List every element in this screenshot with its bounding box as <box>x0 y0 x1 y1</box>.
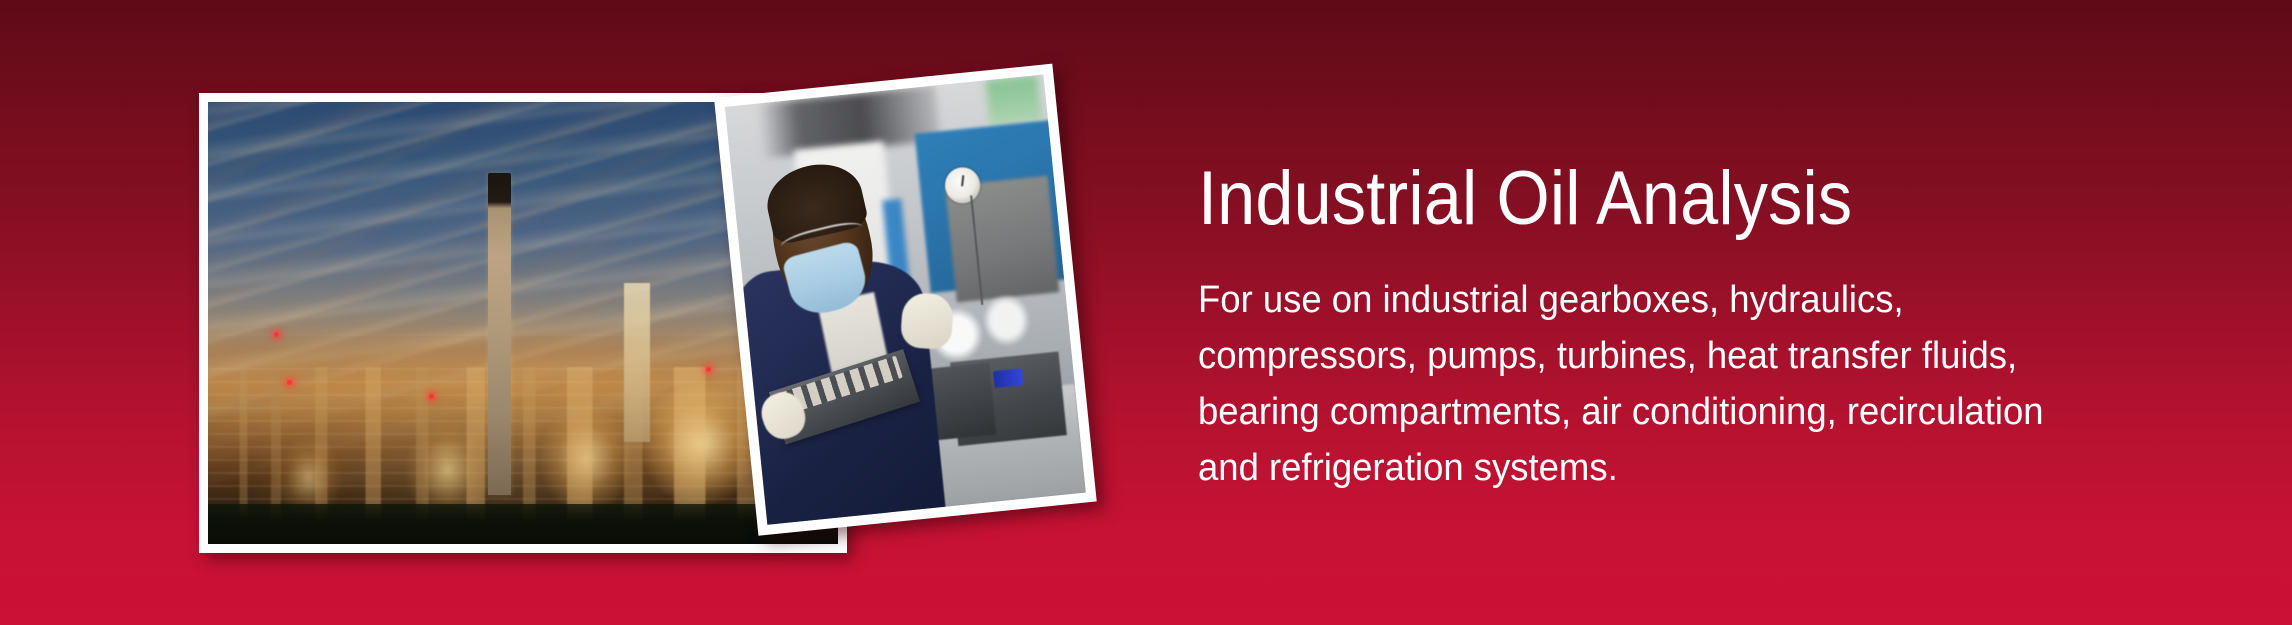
page-title: Industrial Oil Analysis <box>1198 160 2116 238</box>
foreground-treeline <box>208 504 838 544</box>
technician-glove-right <box>899 292 954 350</box>
description-line-1: For use on industrial gearboxes, hydraul… <box>1198 272 2177 328</box>
lab-technician-photo <box>725 75 1086 525</box>
beacon-light-left <box>274 332 279 337</box>
beacon-light-mid <box>429 394 434 399</box>
banner-copy: Industrial Oil Analysis For use on indus… <box>1198 160 2218 496</box>
blue-bottle-cap <box>993 368 1023 388</box>
beacon-light-right <box>706 367 711 372</box>
industrial-oil-analysis-banner: Industrial Oil Analysis For use on indus… <box>0 0 2292 625</box>
lab-green-panel <box>986 75 1042 126</box>
description-line-3: bearing compartments, air conditioning, … <box>1198 384 2177 440</box>
smokestack <box>488 173 511 496</box>
banner-description: For use on industrial gearboxes, hydraul… <box>1198 272 2177 496</box>
description-line-2: compressors, pumps, turbines, heat trans… <box>1198 328 2177 384</box>
description-line-4: and refrigeration systems. <box>1198 440 2177 496</box>
lab-technician-photo-frame <box>714 64 1097 536</box>
distillation-tower-mid <box>624 283 650 442</box>
